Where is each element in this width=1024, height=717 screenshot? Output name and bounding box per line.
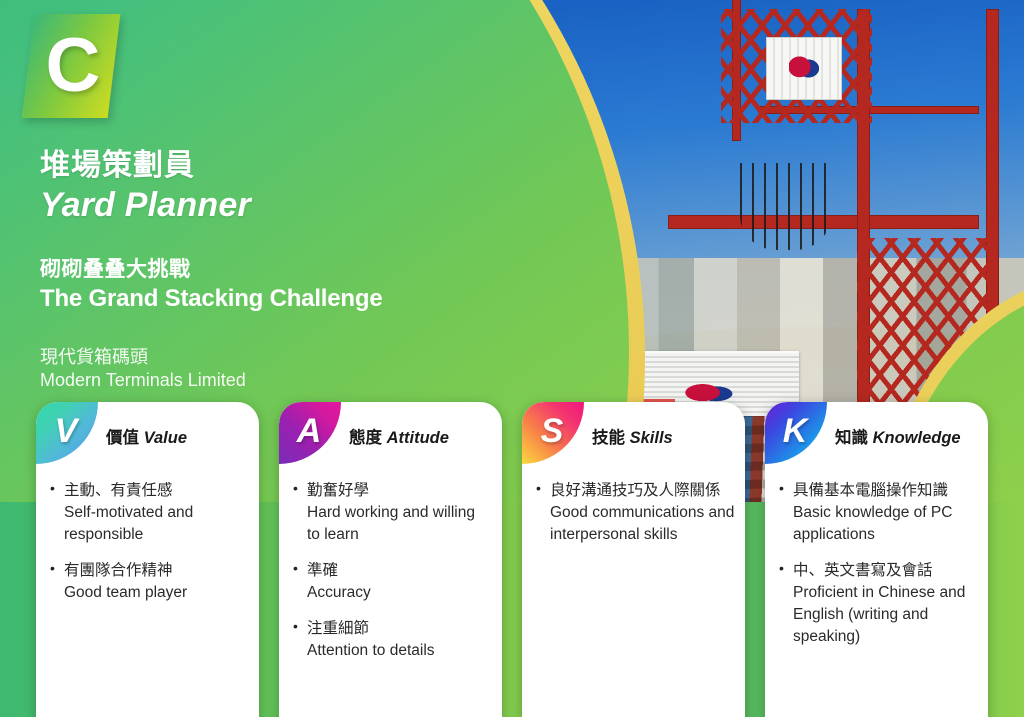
card-badge-k-icon: K — [765, 402, 827, 464]
list-item-en: Good team player — [64, 582, 249, 604]
card-title-zh: 價值 — [106, 429, 139, 447]
list-item-en: Attention to details — [307, 640, 492, 662]
card-requirement-list: 主動、有責任感Self-motivated and responsible有團隊… — [50, 480, 249, 618]
list-item-en: Accuracy — [307, 582, 492, 604]
card-title-en: Skills — [630, 429, 673, 447]
program-name-en: The Grand Stacking Challenge — [40, 285, 382, 313]
card-title-k: 知識 Knowledge — [835, 424, 961, 448]
card-title-zh: 態度 — [349, 429, 382, 447]
list-item: 具備基本電腦操作知識Basic knowledge of PC applicat… — [779, 480, 978, 546]
header-block: 堆場策劃員 Yard Planner 砌砌叠叠大挑戰 The Grand Sta… — [40, 140, 382, 391]
card-v[interactable]: V價值 Value主動、有責任感Self-motivated and respo… — [36, 402, 259, 717]
vask-card-row: V價值 Value主動、有責任感Self-motivated and respo… — [0, 402, 1024, 717]
card-title-en: Attitude — [387, 429, 449, 447]
card-title-a: 態度 Attitude — [349, 424, 449, 448]
list-item: 準確Accuracy — [293, 560, 492, 604]
card-badge-letter: K — [783, 414, 808, 448]
card-requirement-list: 良好溝通技巧及人際關係Good communications and inter… — [536, 480, 735, 560]
card-badge-v-icon: V — [36, 402, 98, 464]
card-title-zh: 技能 — [592, 429, 625, 447]
list-item-zh: 準確 — [307, 560, 492, 582]
card-title-en: Value — [144, 429, 187, 447]
crane-machine-house — [766, 37, 842, 100]
role-title-en: Yard Planner — [40, 186, 382, 225]
card-s[interactable]: S技能 Skills良好溝通技巧及人際關係Good communications… — [522, 402, 745, 717]
list-item-zh: 良好溝通技巧及人際關係 — [550, 480, 735, 502]
list-item: 勤奮好學Hard working and willing to learn — [293, 480, 492, 546]
list-item: 中、英文書寫及會話Proficient in Chinese and Engli… — [779, 560, 978, 648]
modern-terminals-logo-crane — [789, 52, 819, 86]
list-item: 主動、有責任感Self-motivated and responsible — [50, 480, 249, 546]
card-requirement-list: 具備基本電腦操作知識Basic knowledge of PC applicat… — [779, 480, 978, 662]
card-title-v: 價值 Value — [106, 424, 187, 448]
list-item-en: Good communications and interpersonal sk… — [550, 502, 735, 546]
organisation-name-en: Modern Terminals Limited — [40, 370, 382, 391]
list-item-en: Self-motivated and responsible — [64, 502, 249, 546]
card-title-zh: 知識 — [835, 429, 868, 447]
list-item-zh: 有團隊合作精神 — [64, 560, 249, 582]
list-item-zh: 中、英文書寫及會話 — [793, 560, 978, 582]
crane-festoon-cables — [740, 163, 831, 249]
list-item-zh: 注重細節 — [307, 618, 492, 640]
card-a[interactable]: A態度 Attitude勤奮好學Hard working and willing… — [279, 402, 502, 717]
list-item-zh: 具備基本電腦操作知識 — [793, 480, 978, 502]
card-requirement-list: 勤奮好學Hard working and willing to learn準確A… — [293, 480, 492, 676]
card-badge-letter: A — [297, 414, 322, 448]
list-item: 有團隊合作精神Good team player — [50, 560, 249, 604]
poster-canvas: 65 C 堆場策劃員 Yard Planner 砌砌叠叠大挑戰 The Gran… — [0, 0, 1024, 717]
organisation-name-zh: 現代貨箱碼頭 — [40, 343, 382, 369]
list-item: 注重細節Attention to details — [293, 618, 492, 662]
list-item-en: Hard working and willing to learn — [307, 502, 492, 546]
card-badge-a-icon: A — [279, 402, 341, 464]
card-badge-letter: S — [541, 414, 564, 448]
card-badge-letter: V — [55, 414, 78, 448]
card-badge-s-icon: S — [522, 402, 584, 464]
list-item-zh: 勤奮好學 — [307, 480, 492, 502]
program-name-zh: 砌砌叠叠大挑戰 — [40, 253, 382, 283]
card-title-s: 技能 Skills — [592, 424, 673, 448]
list-item: 良好溝通技巧及人際關係Good communications and inter… — [536, 480, 735, 546]
list-item-en: Basic knowledge of PC applications — [793, 502, 978, 546]
list-item-zh: 主動、有責任感 — [64, 480, 249, 502]
list-item-en: Proficient in Chinese and English (writi… — [793, 582, 978, 648]
card-k[interactable]: K知識 Knowledge具備基本電腦操作知識Basic knowledge o… — [765, 402, 988, 717]
role-title-zh: 堆場策劃員 — [40, 140, 382, 184]
card-title-en: Knowledge — [873, 429, 961, 447]
program-logo-letter: C — [30, 14, 116, 118]
